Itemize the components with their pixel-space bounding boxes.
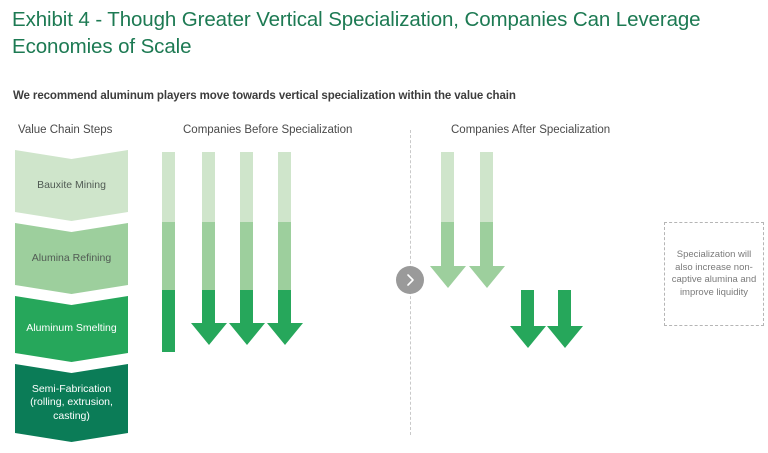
flow-arrow (441, 152, 454, 288)
column-header-before: Companies Before Specialization (183, 124, 352, 136)
flow-arrow-segment (350, 358, 363, 410)
page-title: Exhibit 4 - Though Greater Vertical Spec… (12, 6, 712, 60)
flow-arrow (558, 290, 571, 348)
value-chain-column: Bauxite MiningAlumina RefiningAluminum S… (15, 150, 128, 442)
flow-arrow-head (547, 326, 583, 348)
flow-arrow (278, 152, 291, 345)
flow-arrow (634, 358, 647, 432)
value-chain-step-label: Aluminum Smelting (20, 322, 122, 336)
flow-arrow-segment (441, 222, 454, 266)
column-header-after: Companies After Specialization (451, 124, 610, 136)
flow-arrow-segment (278, 222, 291, 290)
flow-arrow-segment (278, 152, 291, 222)
flow-arrow-segment (162, 152, 175, 222)
flow-arrow (202, 152, 215, 345)
flow-arrow-segment (162, 222, 175, 290)
value-chain-step-label: Alumina Refining (26, 252, 117, 266)
flow-arrow-segment (597, 358, 610, 410)
flow-arrow-segment (202, 222, 215, 290)
flow-arrow-segment (634, 358, 647, 410)
flow-arrow-head (430, 266, 466, 288)
flow-arrow (480, 152, 493, 288)
callout-text: Specialization will also increase non-ca… (665, 249, 763, 299)
callout-box: Specialization will also increase non-ca… (664, 222, 764, 326)
flow-arrow-segment (480, 152, 493, 222)
flow-arrow-head (267, 323, 303, 345)
flow-arrow-head (191, 323, 227, 345)
flow-arrow-segment (521, 290, 534, 326)
value-chain-step: Alumina Refining (15, 223, 128, 294)
flow-arrow-segment (240, 290, 253, 323)
slide-canvas: Exhibit 4 - Though Greater Vertical Spec… (0, 0, 768, 453)
chevron-right-icon (396, 266, 424, 294)
flow-arrow (350, 358, 363, 432)
value-chain-step-label: Bauxite Mining (31, 179, 112, 193)
flow-arrow (521, 290, 534, 348)
flow-arrow (240, 152, 253, 345)
page-subtitle: We recommend aluminum players move towar… (13, 90, 733, 102)
flow-arrow (313, 358, 326, 432)
flow-arrow-segment (240, 152, 253, 222)
flow-arrow-head (510, 326, 546, 348)
value-chain-step-label: Semi-Fabrication (rolling, extrusion, ca… (15, 383, 128, 424)
flow-arrow-segment (202, 152, 215, 222)
flow-arrow-head (229, 323, 265, 345)
flow-arrow-segment (162, 290, 175, 352)
flow-arrow-segment (558, 290, 571, 326)
flow-arrow (597, 358, 610, 432)
flow-arrow-segment (162, 352, 175, 410)
flow-arrow-segment (313, 358, 326, 410)
value-chain-step: Semi-Fabrication (rolling, extrusion, ca… (15, 364, 128, 442)
flow-arrow-segment (240, 222, 253, 290)
value-chain-step: Aluminum Smelting (15, 296, 128, 362)
flow-arrow-segment (278, 290, 291, 323)
flow-arrow (162, 152, 175, 432)
value-chain-step: Bauxite Mining (15, 150, 128, 221)
flow-arrow-segment (480, 222, 493, 266)
flow-arrow-segment (441, 152, 454, 222)
column-header-value-chain: Value Chain Steps (18, 124, 112, 136)
flow-arrow-segment (202, 290, 215, 323)
flow-arrow-head (469, 266, 505, 288)
